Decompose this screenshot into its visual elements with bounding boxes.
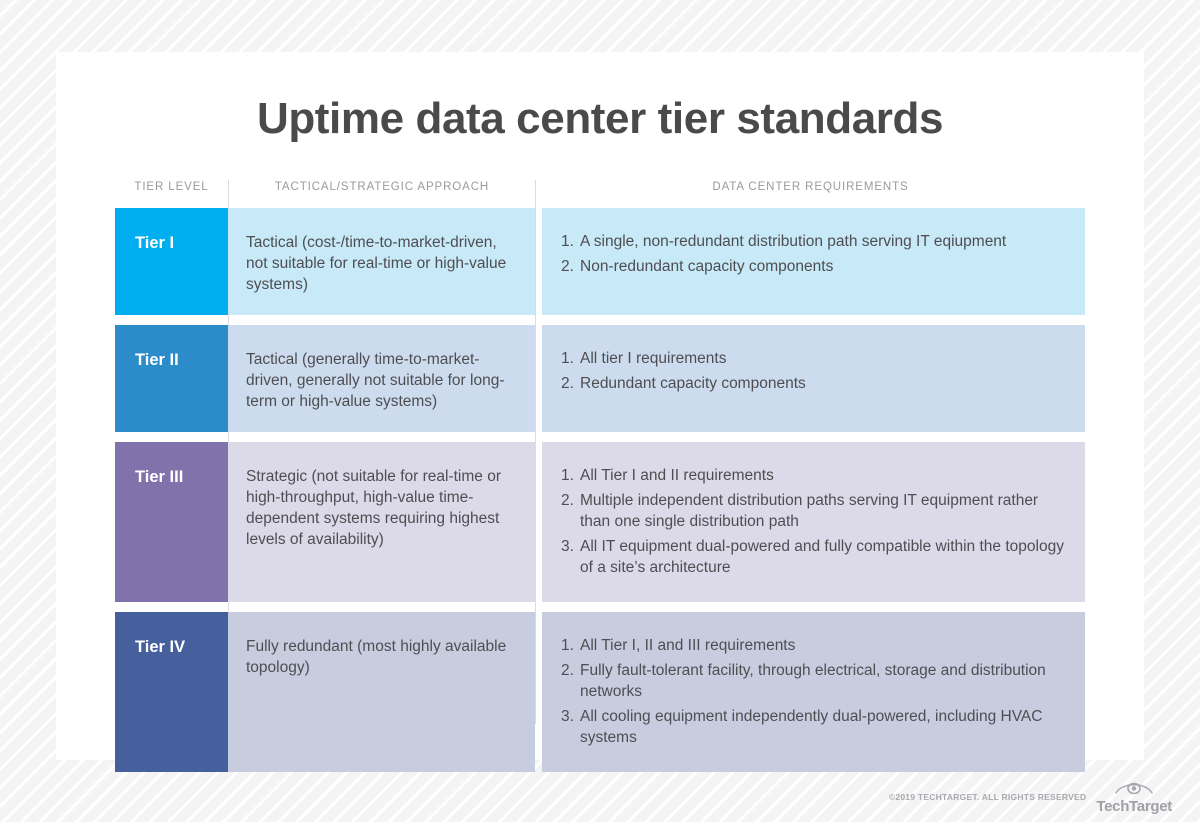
requirement-number: 3.	[561, 536, 580, 578]
requirement-number: 2.	[561, 373, 580, 394]
tier-standards-table: TIER LEVEL TACTICAL/STRATEGIC APPROACH D…	[115, 180, 1085, 782]
tier-requirements: 1. All tier I requirements 2. Redundant …	[542, 325, 1085, 432]
tier-label: Tier I	[115, 208, 228, 315]
table-header-row: TIER LEVEL TACTICAL/STRATEGIC APPROACH D…	[115, 180, 1085, 208]
requirement-item: 2. Redundant capacity components	[561, 373, 1067, 394]
requirement-text: Non-redundant capacity components	[580, 256, 1067, 277]
techtarget-logo: TechTarget	[1096, 779, 1172, 814]
tier-approach: Fully redundant (most highly available t…	[228, 612, 535, 772]
column-header-tier-level: TIER LEVEL	[115, 180, 228, 193]
copyright-text: ©2019 TECHTARGET. ALL RIGHTS RESERVED	[889, 792, 1087, 802]
requirement-item: 3. All IT equipment dual-powered and ful…	[561, 536, 1067, 578]
table-row: Tier I Tactical (cost-/time-to-market-dr…	[115, 208, 1085, 315]
requirement-item: 1. A single, non-redundant distribution …	[561, 231, 1067, 252]
requirement-text: All Tier I and II requirements	[580, 465, 1067, 486]
requirement-item: 2. Fully fault-tolerant facility, throug…	[561, 660, 1067, 702]
tier-requirements: 1. All Tier I, II and III requirements 2…	[542, 612, 1085, 772]
page-title: Uptime data center tier standards	[56, 94, 1144, 144]
requirement-number: 2.	[561, 490, 580, 532]
requirement-number: 1.	[561, 635, 580, 656]
requirement-item: 1. All Tier I and II requirements	[561, 465, 1067, 486]
table-row: Tier IV Fully redundant (most highly ava…	[115, 612, 1085, 772]
requirement-number: 2.	[561, 256, 580, 277]
requirement-item: 1. All tier I requirements	[561, 348, 1067, 369]
requirement-text: All IT equipment dual-powered and fully …	[580, 536, 1067, 578]
requirement-item: 2. Non-redundant capacity components	[561, 256, 1067, 277]
table-row: Tier III Strategic (not suitable for rea…	[115, 442, 1085, 602]
requirement-item: 1. All Tier I, II and III requirements	[561, 635, 1067, 656]
requirement-number: 1.	[561, 348, 580, 369]
requirement-text: Fully fault-tolerant facility, through e…	[580, 660, 1067, 702]
tier-approach: Tactical (generally time-to-market-drive…	[228, 325, 535, 432]
tier-label: Tier IV	[115, 612, 228, 772]
table-row: Tier II Tactical (generally time-to-mark…	[115, 325, 1085, 432]
column-header-requirements: DATA CENTER REQUIREMENTS	[535, 180, 1085, 193]
requirement-text: All cooling equipment independently dual…	[580, 706, 1067, 748]
footer: ©2019 TECHTARGET. ALL RIGHTS RESERVED Te…	[889, 779, 1172, 814]
tier-requirements: 1. All Tier I and II requirements 2. Mul…	[542, 442, 1085, 602]
tier-label: Tier II	[115, 325, 228, 432]
requirement-number: 1.	[561, 231, 580, 252]
requirement-text: Redundant capacity components	[580, 373, 1067, 394]
requirement-text: All Tier I, II and III requirements	[580, 635, 1067, 656]
tier-approach: Tactical (cost-/time-to-market-driven, n…	[228, 208, 535, 315]
requirement-number: 3.	[561, 706, 580, 748]
requirement-number: 2.	[561, 660, 580, 702]
requirement-item: 3. All cooling equipment independently d…	[561, 706, 1067, 748]
requirement-text: All tier I requirements	[580, 348, 1067, 369]
tier-label: Tier III	[115, 442, 228, 602]
column-header-approach: TACTICAL/STRATEGIC APPROACH	[228, 180, 535, 193]
infographic-card: Uptime data center tier standards TIER L…	[56, 52, 1144, 760]
tier-approach: Strategic (not suitable for real-time or…	[228, 442, 535, 602]
techtarget-wordmark: TechTarget	[1096, 800, 1172, 814]
requirement-item: 2. Multiple independent distribution pat…	[561, 490, 1067, 532]
table-body: Tier I Tactical (cost-/time-to-market-dr…	[115, 208, 1085, 772]
requirement-number: 1.	[561, 465, 580, 486]
requirement-text: A single, non-redundant distribution pat…	[580, 231, 1067, 252]
tier-requirements: 1. A single, non-redundant distribution …	[542, 208, 1085, 315]
requirement-text: Multiple independent distribution paths …	[580, 490, 1067, 532]
